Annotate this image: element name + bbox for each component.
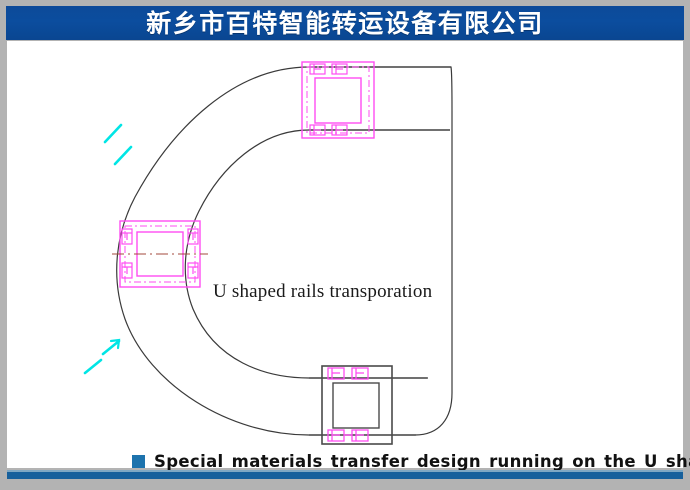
- lower-arrow-pair: [85, 340, 119, 373]
- top-fixture-inner: [315, 78, 361, 123]
- rail-straights: [309, 67, 451, 435]
- inner-rail: [185, 130, 450, 378]
- bullet-square-icon: [132, 455, 145, 468]
- company-title: 新乡市百特智能转运设备有限公司: [146, 11, 544, 36]
- rail-paths-inner: [185, 130, 450, 378]
- arrow-upper-1: [105, 125, 121, 142]
- caption-text: Special materials transfer design runnin…: [154, 452, 690, 471]
- direction-arrows: [85, 125, 131, 373]
- upper-arrow-pair: [105, 125, 131, 164]
- header-banner: 新乡市百特智能转运设备有限公司: [6, 6, 684, 40]
- slide-root: 新乡市百特智能转运设备有限公司: [0, 0, 690, 490]
- drawing-label: U shaped rails transporation: [213, 281, 432, 303]
- cad-drawing: [7, 41, 683, 468]
- arrow-lower-2: [85, 360, 101, 373]
- arrow-upper-2: [115, 147, 131, 164]
- top-fixture: [302, 62, 374, 138]
- rail-paths: [117, 67, 452, 435]
- footer-rule-dark: [7, 472, 683, 479]
- bottom-fixture-inner: [333, 383, 379, 428]
- outer-rail: [117, 67, 452, 435]
- bottom-fixture-rollers: [328, 368, 368, 441]
- drawing-canvas: U shaped rails transporation: [7, 41, 683, 468]
- left-fixture: [112, 221, 208, 287]
- arrow-lower-1: [103, 341, 119, 354]
